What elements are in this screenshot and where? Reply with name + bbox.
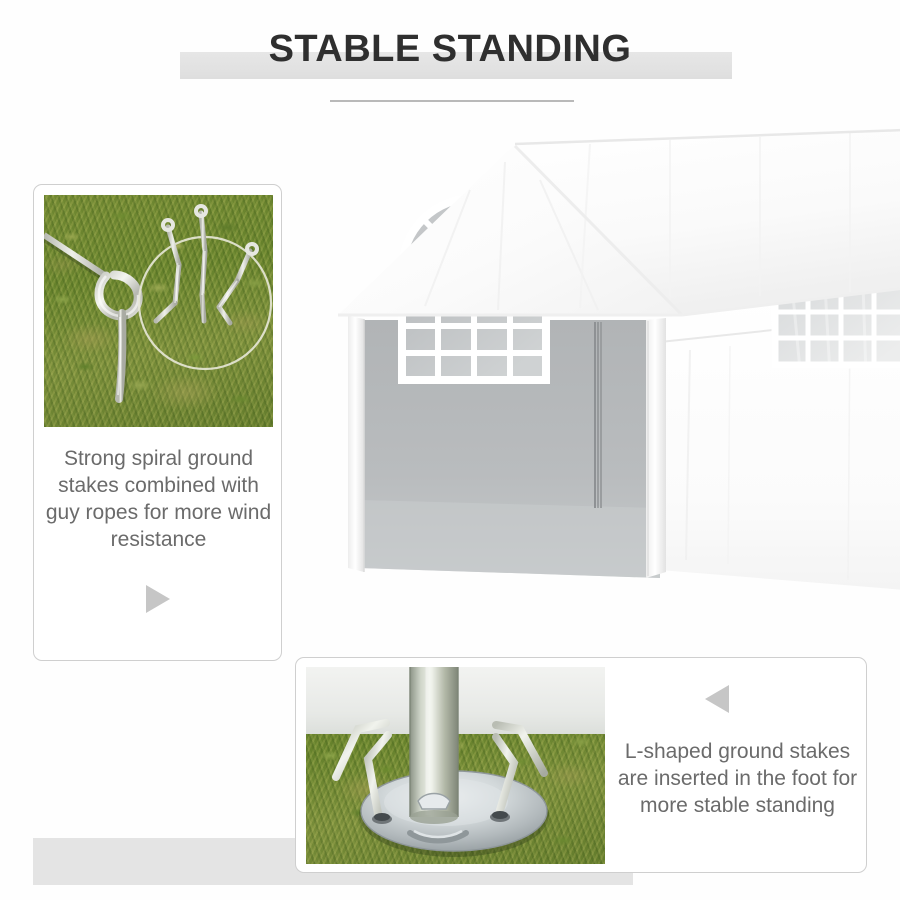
title-divider-rule bbox=[330, 100, 574, 102]
spiral-ground-stakes-card[interactable]: Strong spiral ground stakes combined wit… bbox=[33, 184, 282, 661]
triangle-right-icon[interactable] bbox=[146, 585, 170, 613]
foot-plate-overlay bbox=[306, 667, 605, 864]
l-shaped-stake-caption: L-shaped ground stakes are inserted in t… bbox=[616, 738, 859, 819]
spiral-stake-caption: Strong spiral ground stakes combined wit… bbox=[40, 445, 277, 553]
corner-post-right bbox=[646, 318, 666, 578]
party-tent-photo bbox=[330, 120, 900, 640]
tent-foot-photo bbox=[306, 667, 605, 864]
product-feature-slide: STABLE STANDING bbox=[0, 0, 900, 900]
spiral-stake-photo bbox=[44, 195, 273, 427]
stake-and-rope-overlay bbox=[44, 195, 273, 427]
page-title: STABLE STANDING bbox=[0, 28, 900, 71]
door-seam bbox=[595, 322, 601, 508]
corner-post-left bbox=[348, 316, 364, 572]
triangle-left-icon[interactable] bbox=[705, 685, 729, 713]
tent-illustration bbox=[330, 120, 900, 640]
l-shaped-ground-stakes-card[interactable]: L-shaped ground stakes are inserted in t… bbox=[295, 657, 867, 873]
